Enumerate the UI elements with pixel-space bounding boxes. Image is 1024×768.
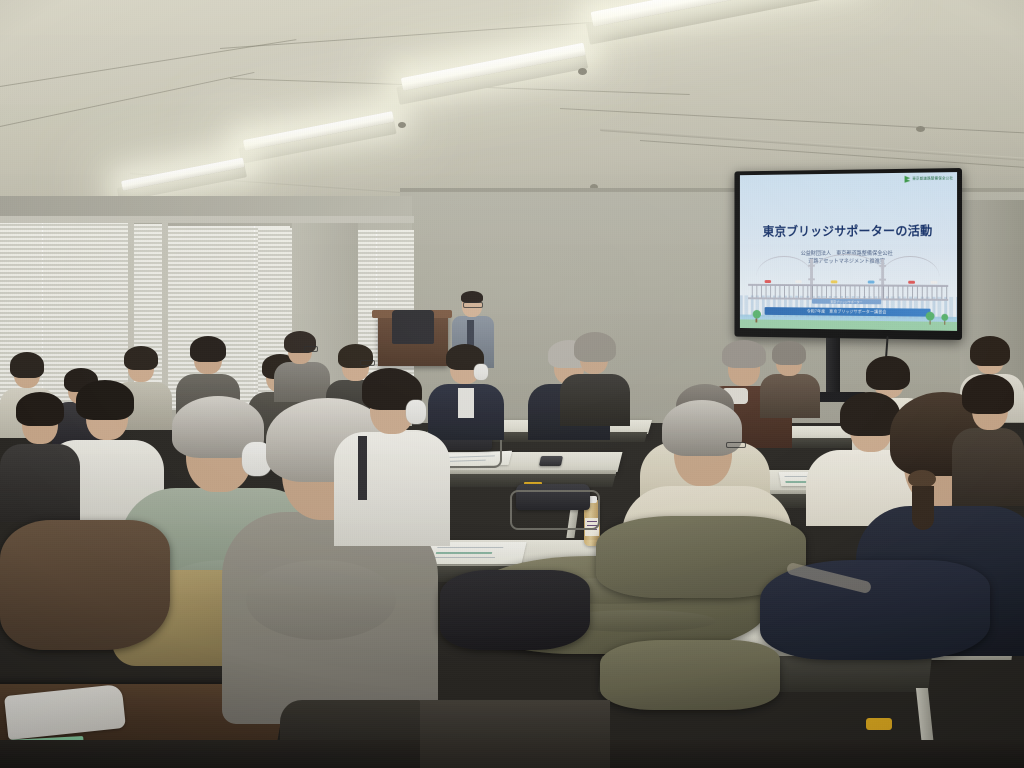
bridge-cable	[810, 254, 884, 275]
screen-bezel: 東京都道路整備保全公社 東京ブリッジサポーターの活動 公益財団法人 東京都道路整…	[740, 172, 957, 331]
ceiling-fitting	[916, 126, 925, 132]
floor-shadow	[420, 700, 610, 768]
slide-banner-text: 令和7年度 東京ブリッジサポーター講習会	[807, 308, 887, 315]
slide-title: 東京ブリッジサポーターの活動	[740, 220, 957, 240]
podium-monitor-back	[392, 310, 434, 344]
attendee	[560, 334, 630, 426]
table-safety-cap	[866, 718, 892, 730]
ceiling-fitting	[578, 68, 587, 75]
bridge-plate-text: 東京ブリッジサポーター	[830, 299, 862, 304]
logo-mark-icon	[905, 176, 911, 183]
seminar-room-photo: 東京都道路整備保全公社 東京ブリッジサポーターの活動 公益財団法人 東京都道路整…	[0, 0, 1024, 768]
glasses-icon	[463, 302, 483, 308]
illustration-car	[868, 280, 875, 283]
attendee	[274, 332, 330, 402]
illustration-car	[831, 280, 838, 283]
organization-logo: 東京都道路整備保全公社	[905, 175, 954, 183]
bridge-plate: 東京ブリッジサポーター	[812, 299, 881, 304]
bridge-cable	[757, 256, 812, 276]
draped-coat-olive-3	[600, 640, 780, 710]
tree-icon	[752, 310, 760, 323]
draped-coat-dark	[440, 570, 590, 650]
logo-text: 東京都道路整備保全公社	[912, 176, 953, 182]
tree-icon	[926, 312, 935, 325]
window-header	[0, 216, 414, 223]
illustration-car	[908, 280, 915, 283]
tv-stand	[826, 338, 840, 398]
ceiling-fitting	[398, 122, 406, 128]
illustration-car	[795, 280, 802, 283]
bridge-cable	[881, 256, 939, 277]
attendee	[952, 376, 1024, 506]
chair-frame	[510, 490, 600, 530]
draped-coat-brown	[0, 520, 170, 650]
ponytail	[912, 486, 934, 530]
attendee	[334, 370, 450, 546]
illustration-car	[930, 280, 937, 283]
smartphone[interactable]	[539, 456, 563, 466]
bridge-illustration: 東京ブリッジサポーター 令和7年度 東京ブリッジサポーター講習会	[740, 253, 957, 331]
ground-strip	[740, 319, 957, 331]
tree-icon	[941, 314, 948, 325]
presentation-screen[interactable]: 東京都道路整備保全公社 東京ブリッジサポーターの活動 公益財団法人 東京都道路整…	[734, 168, 962, 340]
attendee	[0, 392, 80, 522]
illustration-car	[765, 280, 771, 283]
fabric-fold	[246, 560, 396, 640]
slide-content: 東京都道路整備保全公社 東京ブリッジサポーターの活動 公益財団法人 東京都道路整…	[740, 172, 957, 331]
